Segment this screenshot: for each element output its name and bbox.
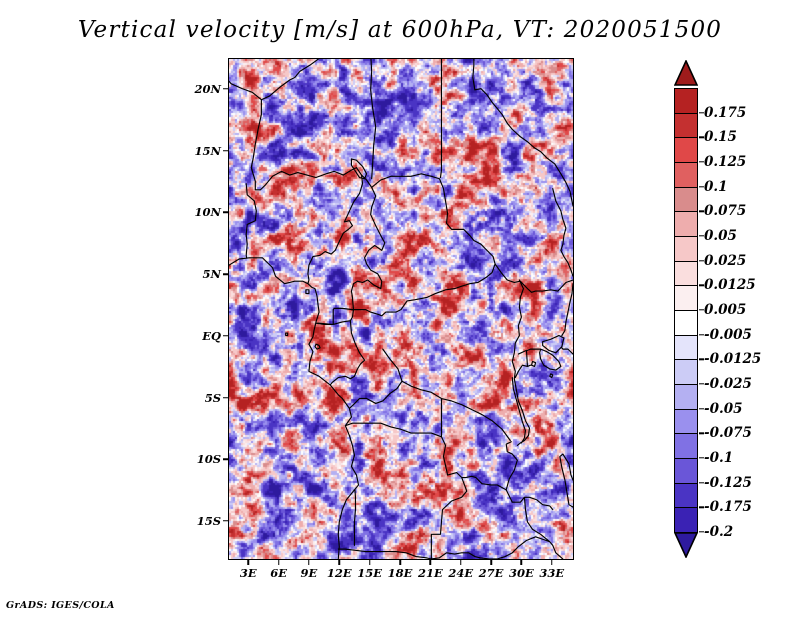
x-axis-tick-mark [460,560,462,565]
colorbar-tick-label: 0.025 [704,253,746,269]
y-axis-tick-label: EQ [185,329,221,343]
colorbar-tick-mark [699,211,704,212]
x-axis-tick-label: 9E [301,566,318,580]
colorbar-tick-label: -0.175 [704,499,752,515]
colorbar-tick-label: -0.1 [704,450,733,466]
colorbar-tick-label: -0.125 [704,475,752,491]
colorbar-tick-label: -0.0125 [704,351,761,367]
colorbar[interactable]: 0.1750.150.1250.10.0750.050.0250.01250.0… [668,60,800,560]
y-axis-tick-mark [223,150,228,152]
x-axis-tick-mark [490,560,492,565]
colorbar-swatch[interactable] [674,211,698,237]
y-axis-tick-mark [223,520,228,522]
y-axis-tick-mark [223,335,228,337]
colorbar-swatch[interactable] [674,285,698,311]
x-axis-tick-mark [278,560,280,565]
colorbar-tick-mark [699,161,704,162]
colorbar-tick-label: 0.075 [704,203,746,219]
colorbar-swatch[interactable] [674,88,698,114]
colorbar-tick-mark [699,408,704,409]
x-axis-tick-label: 3E [240,566,257,580]
colorbar-top-arrow [674,60,698,86]
attribution-text: GrADS: IGES/COLA [6,600,115,611]
y-axis-tick-mark [223,88,228,90]
x-axis-tick-label: 27E [479,566,504,580]
colorbar-tick-mark [699,112,704,113]
colorbar-tick-mark [699,383,704,384]
x-axis-tick-mark [551,560,553,565]
x-axis-tick-label: 12E [327,566,352,580]
colorbar-tick-label: 0.0125 [704,277,756,293]
colorbar-swatch[interactable] [674,384,698,410]
colorbar-swatch[interactable] [674,137,698,163]
x-axis-tick-label: 21E [418,566,443,580]
page-title: Vertical velocity [m/s] at 600hPa, VT: 2… [0,17,800,43]
x-axis-tick-mark [430,560,432,565]
colorbar-swatch[interactable] [674,458,698,484]
y-axis-tick-label: 15N [185,144,221,158]
x-axis-tick-label: 30E [509,566,534,580]
y-axis-tick-mark [223,273,228,275]
x-axis-tick-label: 24E [448,566,473,580]
colorbar-tick-label: -0.075 [704,425,752,441]
y-axis-tick-label: 15S [185,514,221,528]
colorbar-swatch[interactable] [674,409,698,435]
colorbar-tick-label: 0.125 [704,154,746,170]
colorbar-tick-label: -0.2 [704,524,733,540]
colorbar-swatch[interactable] [674,113,698,139]
colorbar-tick-label: 0.15 [704,129,737,145]
grads-plot-page: Vertical velocity [m/s] at 600hPa, VT: 2… [0,0,800,618]
y-axis-tick-mark [223,212,228,214]
y-axis-tick-mark [223,458,228,460]
x-axis-tick-mark [399,560,401,565]
colorbar-swatch[interactable] [674,187,698,213]
country-borders-overlay [229,59,573,559]
colorbar-tick-label: 0.1 [704,179,728,195]
y-axis-tick-label: 20N [185,82,221,96]
x-axis-tick-label: 6E [270,566,287,580]
colorbar-tick-mark [699,457,704,458]
colorbar-tick-mark [699,531,704,532]
coastline-path [229,59,573,559]
colorbar-tick-mark [699,285,704,286]
y-axis-tick-label: 5S [185,391,221,405]
colorbar-tick-label: 0.005 [704,302,746,318]
colorbar-swatch[interactable] [674,359,698,385]
y-axis-tick-label: 10N [185,205,221,219]
x-axis-tick-label: 15E [357,566,382,580]
colorbar-tick-label: 0.05 [704,228,737,244]
colorbar-tick-mark [699,309,704,310]
colorbar-swatch[interactable] [674,507,698,533]
colorbar-tick-mark [699,137,704,138]
colorbar-swatch[interactable] [674,261,698,287]
colorbar-swatch[interactable] [674,236,698,262]
colorbar-tick-mark [699,433,704,434]
colorbar-tick-label: -0.05 [704,401,742,417]
colorbar-swatch[interactable] [674,310,698,336]
map-plot-area[interactable] [228,58,574,560]
colorbar-tick-mark [699,359,704,360]
colorbar-bottom-arrow [674,532,698,558]
colorbar-tick-mark [699,186,704,187]
colorbar-tick-label: -0.025 [704,376,752,392]
colorbar-tick-label: -0.005 [704,327,752,343]
colorbar-tick-label: 0.175 [704,105,746,121]
colorbar-tick-mark [699,334,704,335]
colorbar-swatch[interactable] [674,483,698,509]
colorbar-swatch[interactable] [674,162,698,188]
y-axis-tick-label: 10S [185,452,221,466]
x-axis-tick-mark [339,560,341,565]
x-axis-tick-label: 33E [539,566,564,580]
colorbar-swatch[interactable] [674,433,698,459]
colorbar-swatch[interactable] [674,335,698,361]
y-axis-tick-mark [223,397,228,399]
x-axis-tick-label: 18E [388,566,413,580]
colorbar-tick-mark [699,235,704,236]
x-axis-tick-mark [247,560,249,565]
colorbar-tick-mark [699,507,704,508]
y-axis-tick-label: 5N [185,267,221,281]
colorbar-tick-mark [699,482,704,483]
x-axis-tick-mark [308,560,310,565]
colorbar-tick-mark [699,260,704,261]
x-axis-tick-mark [521,560,523,565]
x-axis-tick-mark [369,560,371,565]
